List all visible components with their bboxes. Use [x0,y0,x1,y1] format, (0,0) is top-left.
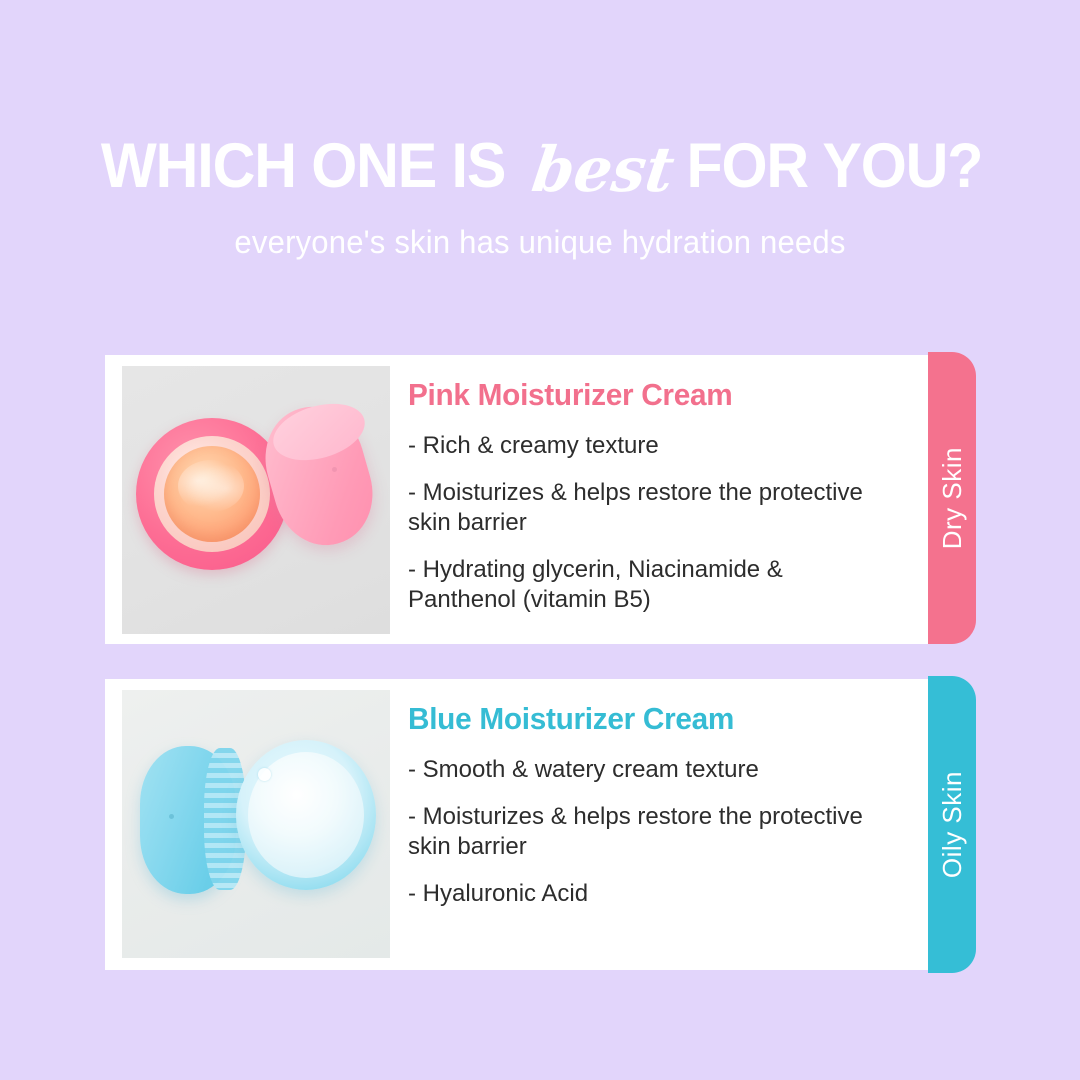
page-title: WHICH ONE IS best FOR YOU? [0,130,1080,202]
pink-jar-lid-dot-icon [332,467,337,472]
product-details-pink: Pink Moisturizer Cream - Rich & creamy t… [390,355,928,644]
product-card-blue[interactable]: Blue Moisturizer Cream - Smooth & watery… [105,679,928,970]
product-heading-blue: Blue Moisturizer Cream [408,701,886,737]
product-heading-pink: Pink Moisturizer Cream [408,377,886,413]
page-title-part-1: WHICH ONE IS [101,130,505,202]
skin-type-tab-dry[interactable]: Dry Skin [928,352,976,644]
page-subtitle: everyone's skin has unique hydration nee… [16,224,1064,261]
skin-type-tab-label-oily: Oily Skin [937,771,968,878]
page-title-part-2: FOR YOU? [686,130,982,202]
product-image-wrapper-pink [105,355,390,644]
pink-jar-cream-swirl-icon [178,460,244,512]
product-bullet: - Hydrating glycerin, Niacinamide & Pant… [408,555,878,615]
skin-type-tab-oily[interactable]: Oily Skin [928,676,976,973]
product-bullet: - Smooth & watery cream texture [408,755,878,785]
product-details-blue: Blue Moisturizer Cream - Smooth & watery… [390,679,928,970]
product-image-blue [122,690,390,958]
product-bullet: - Rich & creamy texture [408,431,878,461]
product-image-pink [122,366,390,634]
product-bullet: - Moisturizes & helps restore the protec… [408,478,878,538]
skin-type-tab-label-dry: Dry Skin [937,447,968,549]
blue-jar-bubble-icon [258,768,271,781]
header: WHICH ONE IS best FOR YOU? everyone's sk… [0,0,1080,261]
page-title-script-word: best [522,134,684,206]
product-bullet: - Hyaluronic Acid [408,879,878,909]
product-card-pink[interactable]: Pink Moisturizer Cream - Rich & creamy t… [105,355,928,644]
blue-jar-lid-dot-icon [169,814,174,819]
product-image-wrapper-blue [105,679,390,970]
product-bullet: - Moisturizes & helps restore the protec… [408,802,878,862]
